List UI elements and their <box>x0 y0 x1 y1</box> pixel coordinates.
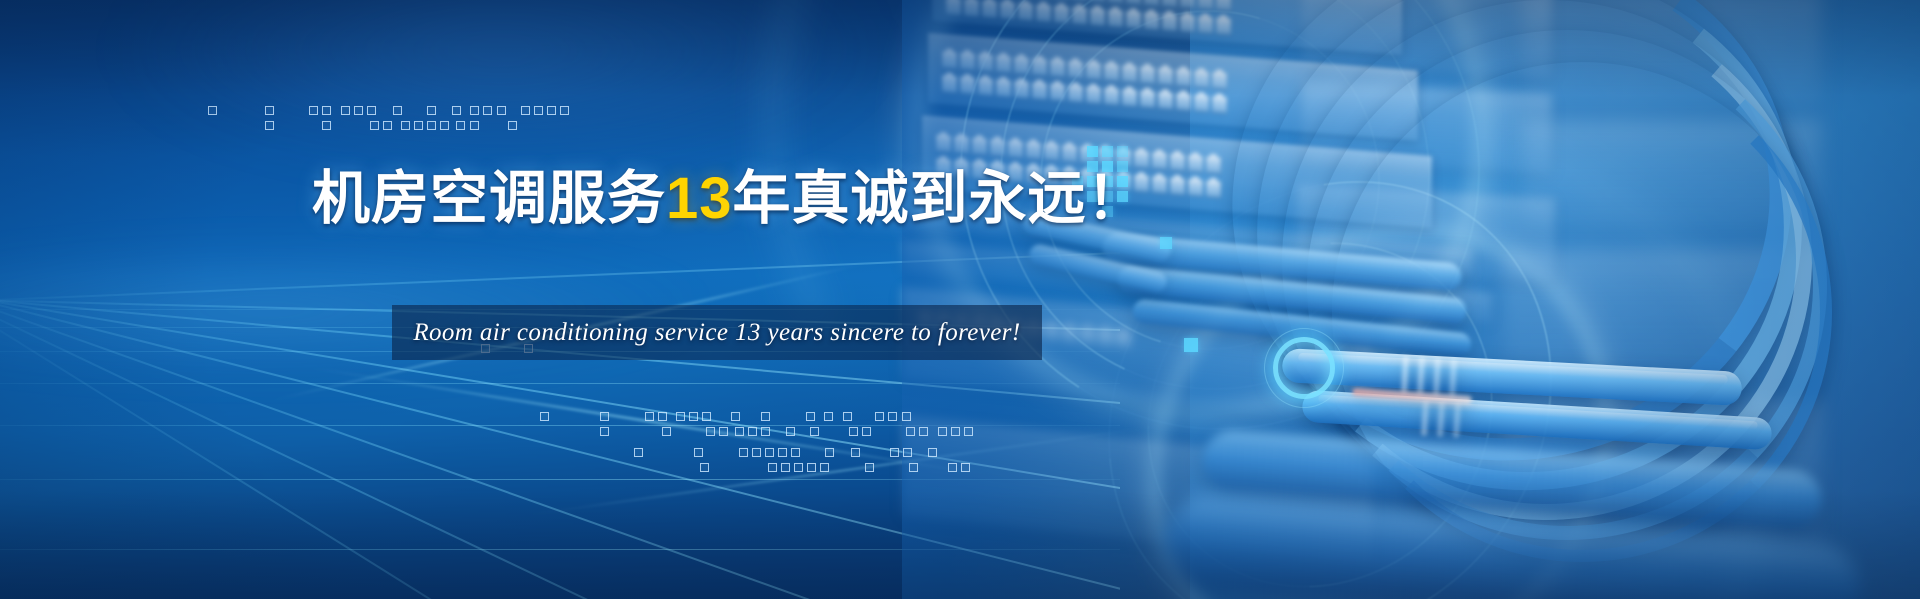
page-title: 机房空调服务13年真诚到永远！ <box>312 168 1146 230</box>
subtitle: Room air conditioning service 13 years s… <box>392 305 1042 360</box>
rack-haze <box>902 0 1920 599</box>
headline-part-1: 机房空调服务 <box>312 166 666 231</box>
headline-part-2: 年真诚到永远！ <box>733 166 1146 231</box>
network-switch-rack <box>902 0 1920 599</box>
hero-banner: 机房空调服务13年真诚到永远！ Room air conditioning se… <box>0 0 1920 599</box>
glow-ring <box>1273 337 1335 399</box>
headline-years-number: 13 <box>666 166 733 231</box>
